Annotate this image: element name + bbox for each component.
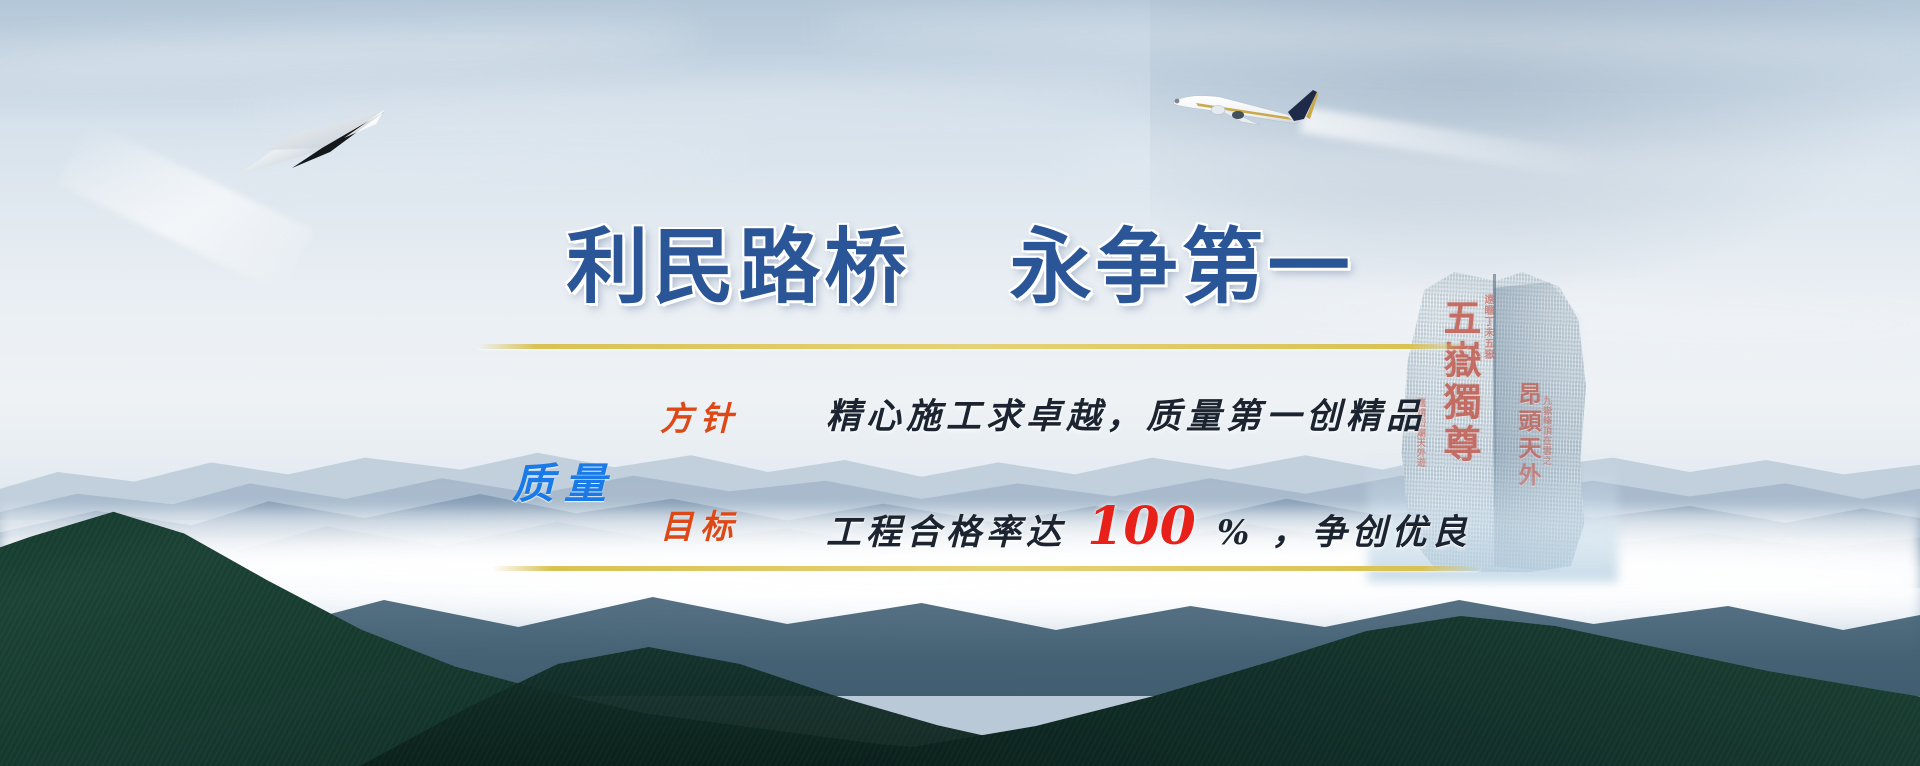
divider-top — [478, 344, 1468, 349]
headline-part-1: 利民路桥 — [566, 220, 910, 315]
headline-part-2: 永争第一 — [1010, 220, 1354, 315]
banner-content: 利民路桥 永争第一 质量 方针 精心施工求卓越，质量第一创精品 目标 工程合格率… — [0, 0, 1920, 766]
goal-slogan-prefix: 工程合格率达 — [826, 512, 1066, 553]
policy-label: 方针 — [660, 392, 740, 440]
hero-banner: 五嶽獨尊 昂頭天外 遠瞻丁未五嶽 嘉靖岱廟天外遊 九嶽峰頂在雲之 利民路桥 永争… — [0, 0, 1920, 766]
goal-percent-sign: % — [1217, 513, 1254, 553]
policy-slogan: 精心施工求卓越，质量第一创精品 — [826, 388, 1426, 439]
quality-label: 质量 — [512, 450, 616, 511]
banner-headline: 利民路桥 永争第一 — [0, 200, 1920, 319]
goal-slogan-suffix: ，争创优良 — [1271, 512, 1471, 553]
goal-percent-value: 100 — [1083, 496, 1200, 557]
goal-slogan: 工程合格率达 100 % ，争创优良 — [826, 496, 1471, 557]
goal-label: 目标 — [660, 500, 740, 548]
divider-bottom — [492, 566, 1480, 571]
